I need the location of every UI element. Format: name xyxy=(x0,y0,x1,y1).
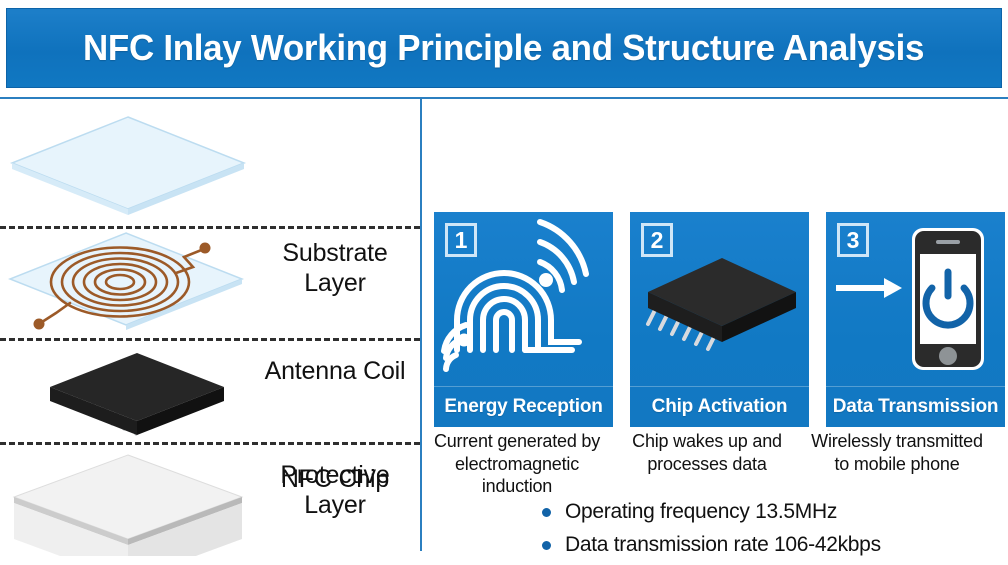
step-label-bar-1: Energy Reception xyxy=(434,386,613,427)
step-card-energy-reception[interactable]: 1 Energy Reception xyxy=(434,212,613,427)
spec-text-frequency: Operating frequency 13.5MHz xyxy=(565,498,837,525)
layer-label-substrate-line2: Layer xyxy=(250,269,420,299)
step-caption-3: Wirelessly transmitted to mobile phone xyxy=(802,430,992,498)
layer-label-protective-line1: Protective xyxy=(250,461,420,491)
step-caption-1-line2: electromagnetic induction xyxy=(422,453,612,498)
spec-item: Operating frequency 13.5MHz xyxy=(542,498,1008,525)
step-label-energy-reception: Energy Reception xyxy=(444,396,602,418)
step-captions: Current generated by electromagnetic ind… xyxy=(422,430,1008,498)
layer-label-antenna-line1: Antenna Coil xyxy=(250,357,420,387)
nfc-chip-icon xyxy=(42,347,232,447)
step-caption-2-line1: Chip wakes up and xyxy=(612,430,802,453)
protective-block-icon xyxy=(8,451,248,556)
step-badge-2: 2 xyxy=(641,223,673,257)
bullet-dot-icon xyxy=(542,508,551,517)
step-caption-1: Current generated by electromagnetic ind… xyxy=(422,430,612,498)
spec-text-rate: Data transmission rate 106-42kbps xyxy=(565,531,881,558)
structure-panel: Substrate Layer Antenna Coil NFC Chip Pr… xyxy=(0,99,420,551)
infographic-root: NFC Inlay Working Principle and Structur… xyxy=(0,0,1008,551)
page-title: NFC Inlay Working Principle and Structur… xyxy=(83,27,924,69)
step-label-chip-activation: Chip Activation xyxy=(652,396,788,418)
bullet-dot-icon xyxy=(542,541,551,550)
step-badge-1: 1 xyxy=(445,223,477,257)
step-label-data-transmission: Data Transmission xyxy=(833,396,999,418)
layer-label-protective-line2: Layer xyxy=(250,491,420,521)
step-caption-1-line1: Current generated by xyxy=(422,430,612,453)
layer-label-substrate-line1: Substrate xyxy=(250,239,420,269)
step-label-bar-3: Data Transmission xyxy=(826,386,1005,427)
spec-list: Operating frequency 13.5MHz Data transmi… xyxy=(542,498,1008,565)
step-cards: 1 Energy Reception xyxy=(434,212,1006,427)
step-badge-3: 3 xyxy=(837,223,869,257)
step-caption-3-line1: Wirelessly transmitted xyxy=(802,430,992,453)
step-caption-3-line2: to mobile phone xyxy=(802,453,992,476)
step-caption-2-line2: processes data xyxy=(612,453,802,476)
antenna-coil-icon xyxy=(8,227,258,339)
process-panel: 1 Energy Reception xyxy=(422,99,1008,551)
layer-label-antenna: Antenna Coil xyxy=(250,357,420,387)
step-label-bar-2: Chip Activation xyxy=(630,386,809,427)
substrate-sheet-icon xyxy=(8,111,248,221)
title-banner: NFC Inlay Working Principle and Structur… xyxy=(6,8,1002,88)
step-card-chip-activation[interactable]: 2 Chip Activation xyxy=(630,212,809,427)
layer-label-substrate: Substrate Layer xyxy=(250,239,420,298)
arrow-right-icon xyxy=(836,278,902,298)
layer-label-protective-group: Protective Layer xyxy=(250,461,420,520)
step-caption-2: Chip wakes up and processes data xyxy=(612,430,802,498)
spec-item: Data transmission rate 106-42kbps xyxy=(542,531,1008,558)
step-card-data-transmission[interactable]: 3 Data Transmission xyxy=(826,212,1005,427)
